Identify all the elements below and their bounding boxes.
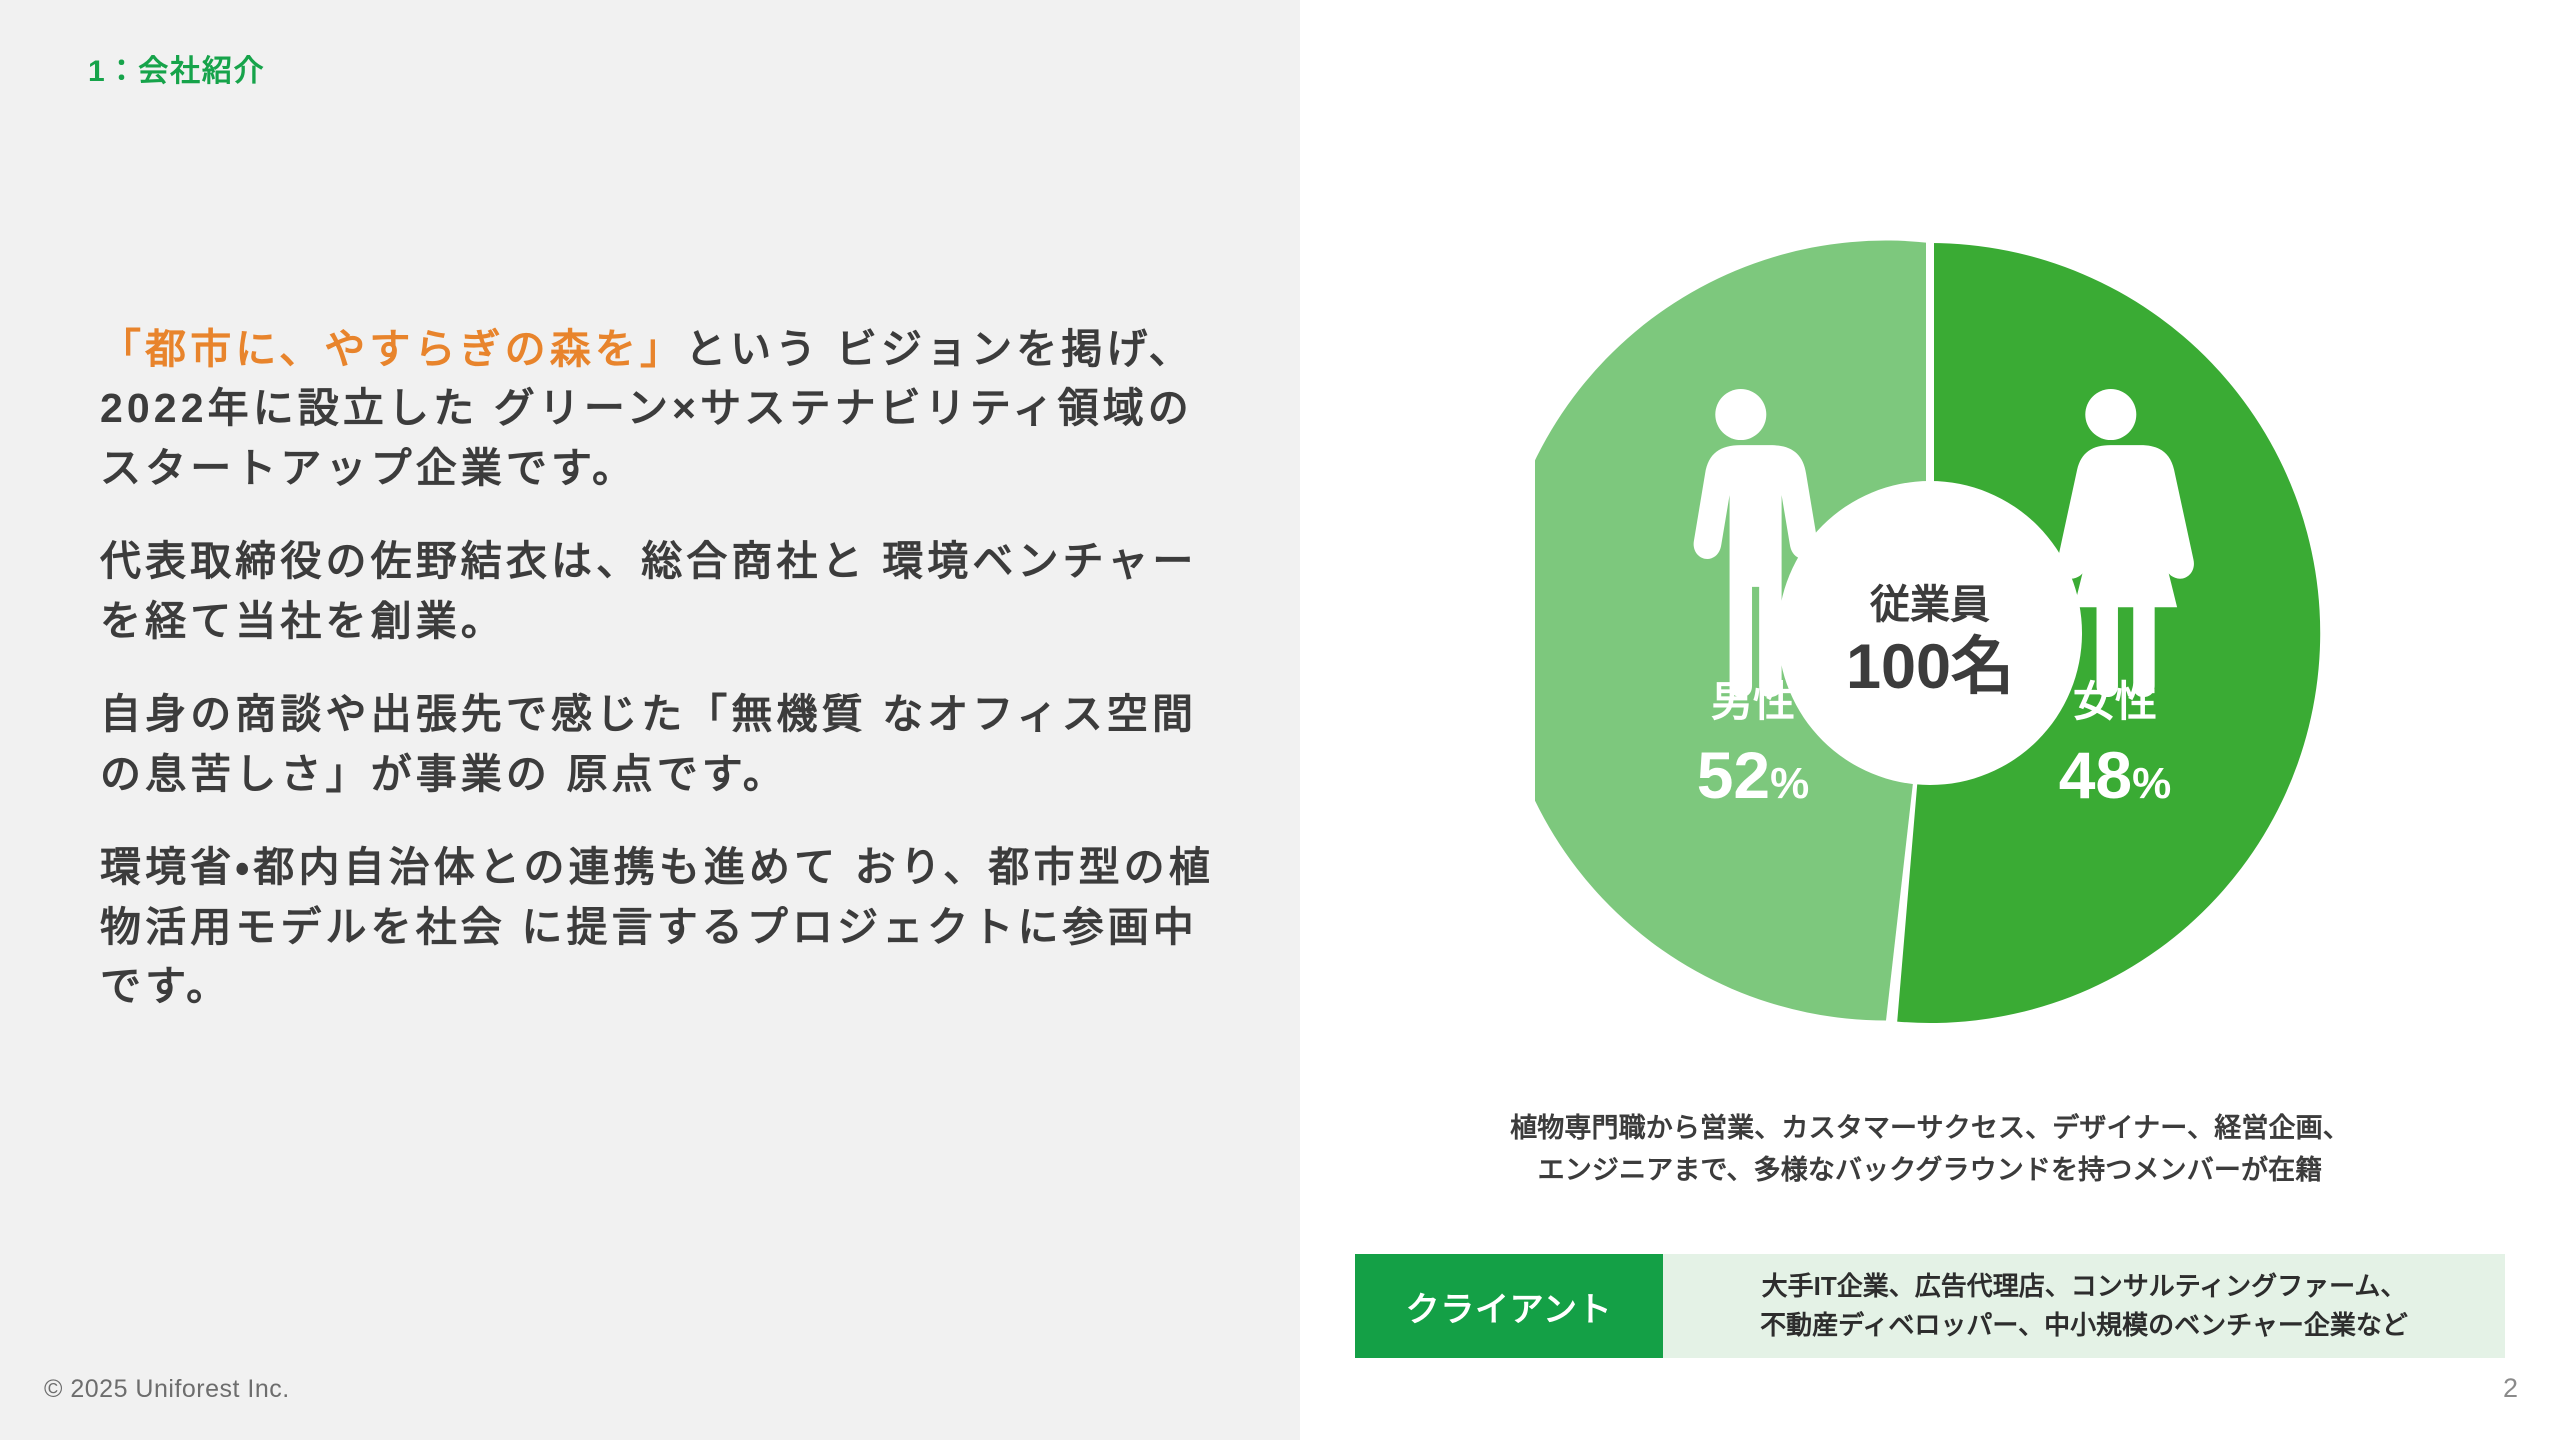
paragraph-vision: 「都市に、やすらぎの森を」という ビジョンを掲げ、2022年に設立した グリーン… <box>100 320 1220 498</box>
client-bar: クライアント 大手IT企業、広告代理店、コンサルティングファーム、 不動産ディベ… <box>1355 1254 2505 1358</box>
paragraph-origin: 自身の商談や出張先で感じた「無機質 なオフィス空間の息苦しさ」が事業の 原点です… <box>100 685 1220 804</box>
right-visual-panel: 従業員 100名 男性 52% 女性 48% 植物専門職から営業、カスタマーサク… <box>1300 0 2560 1440</box>
left-content-panel: 1：会社紹介 「都市に、やすらぎの森を」という ビジョンを掲げ、2022年に設立… <box>0 0 1300 1440</box>
vision-quote-accent: 「都市に、やすらぎの森を」 <box>100 326 685 372</box>
slice-label-male: 男性 <box>1711 678 1795 725</box>
slice-value-male-suffix: % <box>1770 759 1809 808</box>
chart-caption: 植物専門職から営業、カスタマーサクセス、デザイナー、経営企画、 エンジニアまで、… <box>1360 1108 2500 1192</box>
slice-value-female-number: 48 <box>2059 738 2132 812</box>
paragraph-partnership: 環境省・都内自治体との連携も進めて おり、都市型の植物活用モデルを社会 に提言す… <box>100 838 1220 1016</box>
client-description-line-1: 大手IT企業、広告代理店、コンサルティングファーム、 <box>1762 1267 2407 1306</box>
footer-copyright: © 2025 Uniforest Inc. <box>44 1375 290 1404</box>
body-copy-block: 「都市に、やすらぎの森を」という ビジョンを掲げ、2022年に設立した グリーン… <box>100 320 1220 1016</box>
client-tag-label: クライアント <box>1355 1254 1663 1358</box>
client-description: 大手IT企業、広告代理店、コンサルティングファーム、 不動産ディベロッパー、中小… <box>1663 1254 2505 1358</box>
slide-root: 1：会社紹介 「都市に、やすらぎの森を」という ビジョンを掲げ、2022年に設立… <box>0 0 2560 1440</box>
section-label: 1：会社紹介 <box>88 46 265 90</box>
page-number: 2 <box>2503 1373 2518 1404</box>
client-description-line-2: 不動産ディベロッパー、中小規模のベンチャー企業など <box>1760 1306 2408 1345</box>
employee-donut-chart: 従業員 100名 男性 52% 女性 48% <box>1535 238 2325 1028</box>
slice-value-female-suffix: % <box>2132 759 2171 808</box>
slice-value-male-number: 52 <box>1697 738 1770 812</box>
donut-center-value: 100名 <box>1846 632 2014 702</box>
donut-center-label: 従業員 <box>1869 583 1990 627</box>
chart-caption-line-2: エンジニアまで、多様なバックグラウンドを持つメンバーが在籍 <box>1360 1150 2500 1192</box>
paragraph-founder: 代表取締役の佐野結衣は、総合商社と 環境ベンチャーを経て当社を創業。 <box>100 532 1220 651</box>
chart-caption-line-1: 植物専門職から営業、カスタマーサクセス、デザイナー、経営企画、 <box>1360 1108 2500 1150</box>
slice-label-female: 女性 <box>2073 678 2157 725</box>
